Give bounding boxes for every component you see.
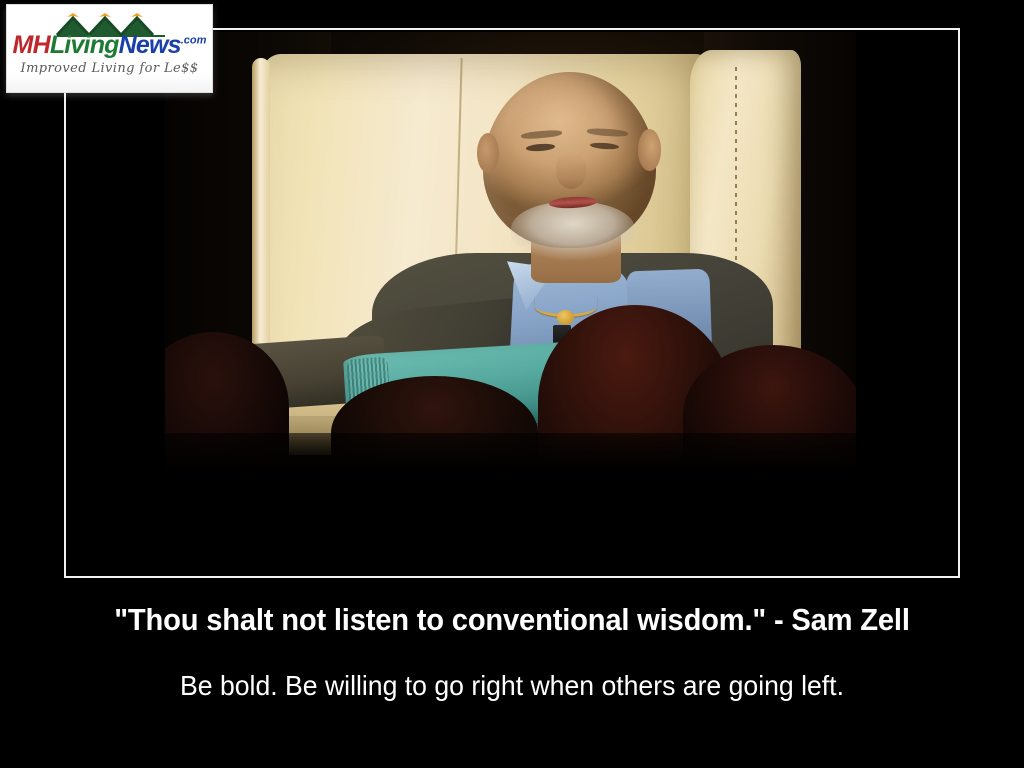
logo-text-mh: MH [13,31,50,59]
logo-tagline: Improved Living for Le$$ [7,61,212,76]
foreground-shadow-band [165,433,856,473]
mhlivingnews-logo-badge[interactable]: MHLivingNews.com Improved Living for Le$… [6,4,213,93]
logo-text-living: Living [50,31,119,59]
logo-text-dotcom: .com [181,35,207,47]
subject-beard [511,202,635,264]
logo-wordmark: MHLivingNews.com [7,33,212,58]
subtitle-text: Be bold. Be willing to go right when oth… [26,670,999,702]
poster-canvas: MHLivingNews.com Improved Living for Le$… [0,0,1024,768]
logo-text-news: News [119,31,181,59]
subject-ear-right [638,129,661,171]
subject-nose [556,153,586,188]
quote-text: "Thou shalt not listen to conventional w… [31,602,994,638]
subject-photograph [165,32,856,473]
caption-area: "Thou shalt not listen to conventional w… [0,592,1024,768]
gold-necklace-pendant [557,310,574,325]
